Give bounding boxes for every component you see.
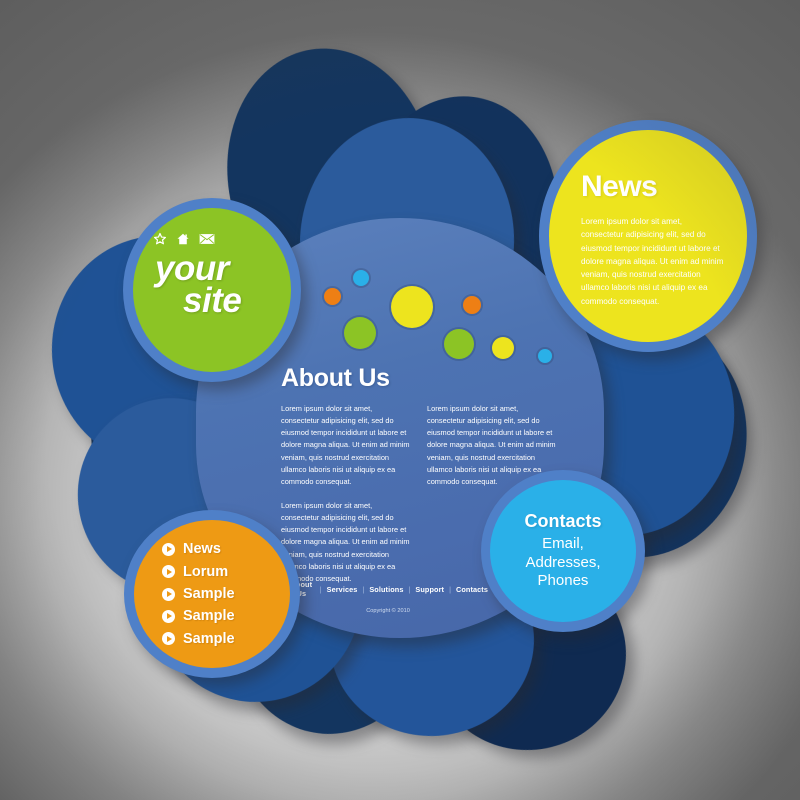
poster-canvas: About Us Lorem ipsum dolor sit amet, con… (0, 0, 800, 800)
background-vignette (0, 0, 800, 800)
